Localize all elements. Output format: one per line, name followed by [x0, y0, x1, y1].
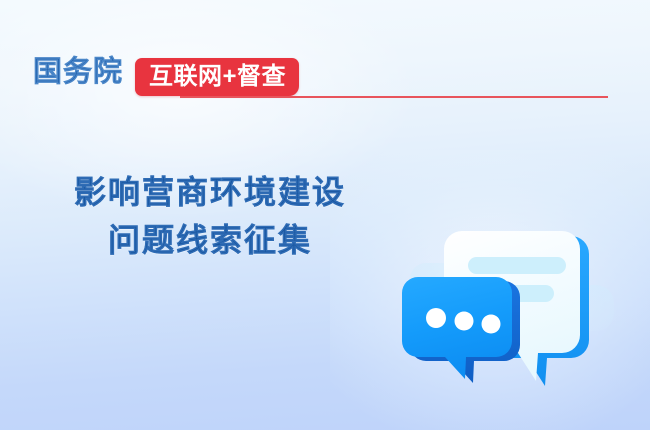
banner-header: 国务院 互联网+督查: [0, 52, 650, 104]
chat-bubbles-illustration: [400, 205, 630, 400]
banner-root: 国务院 互联网+督查 影响营商环境建设 问题线索征集: [0, 0, 650, 430]
small-chat-bubble: [402, 277, 512, 379]
title-line-1: 影响营商环境建设: [0, 168, 420, 216]
title-line-2: 问题线索征集: [0, 216, 420, 264]
header-divider-rule: [180, 96, 608, 98]
internet-supervision-badge: 互联网+督查: [135, 58, 299, 96]
badge-label: 互联网+督查: [149, 65, 286, 89]
page-title: 影响营商环境建设 问题线索征集: [0, 168, 420, 264]
gov-council-label: 国务院: [33, 52, 123, 92]
